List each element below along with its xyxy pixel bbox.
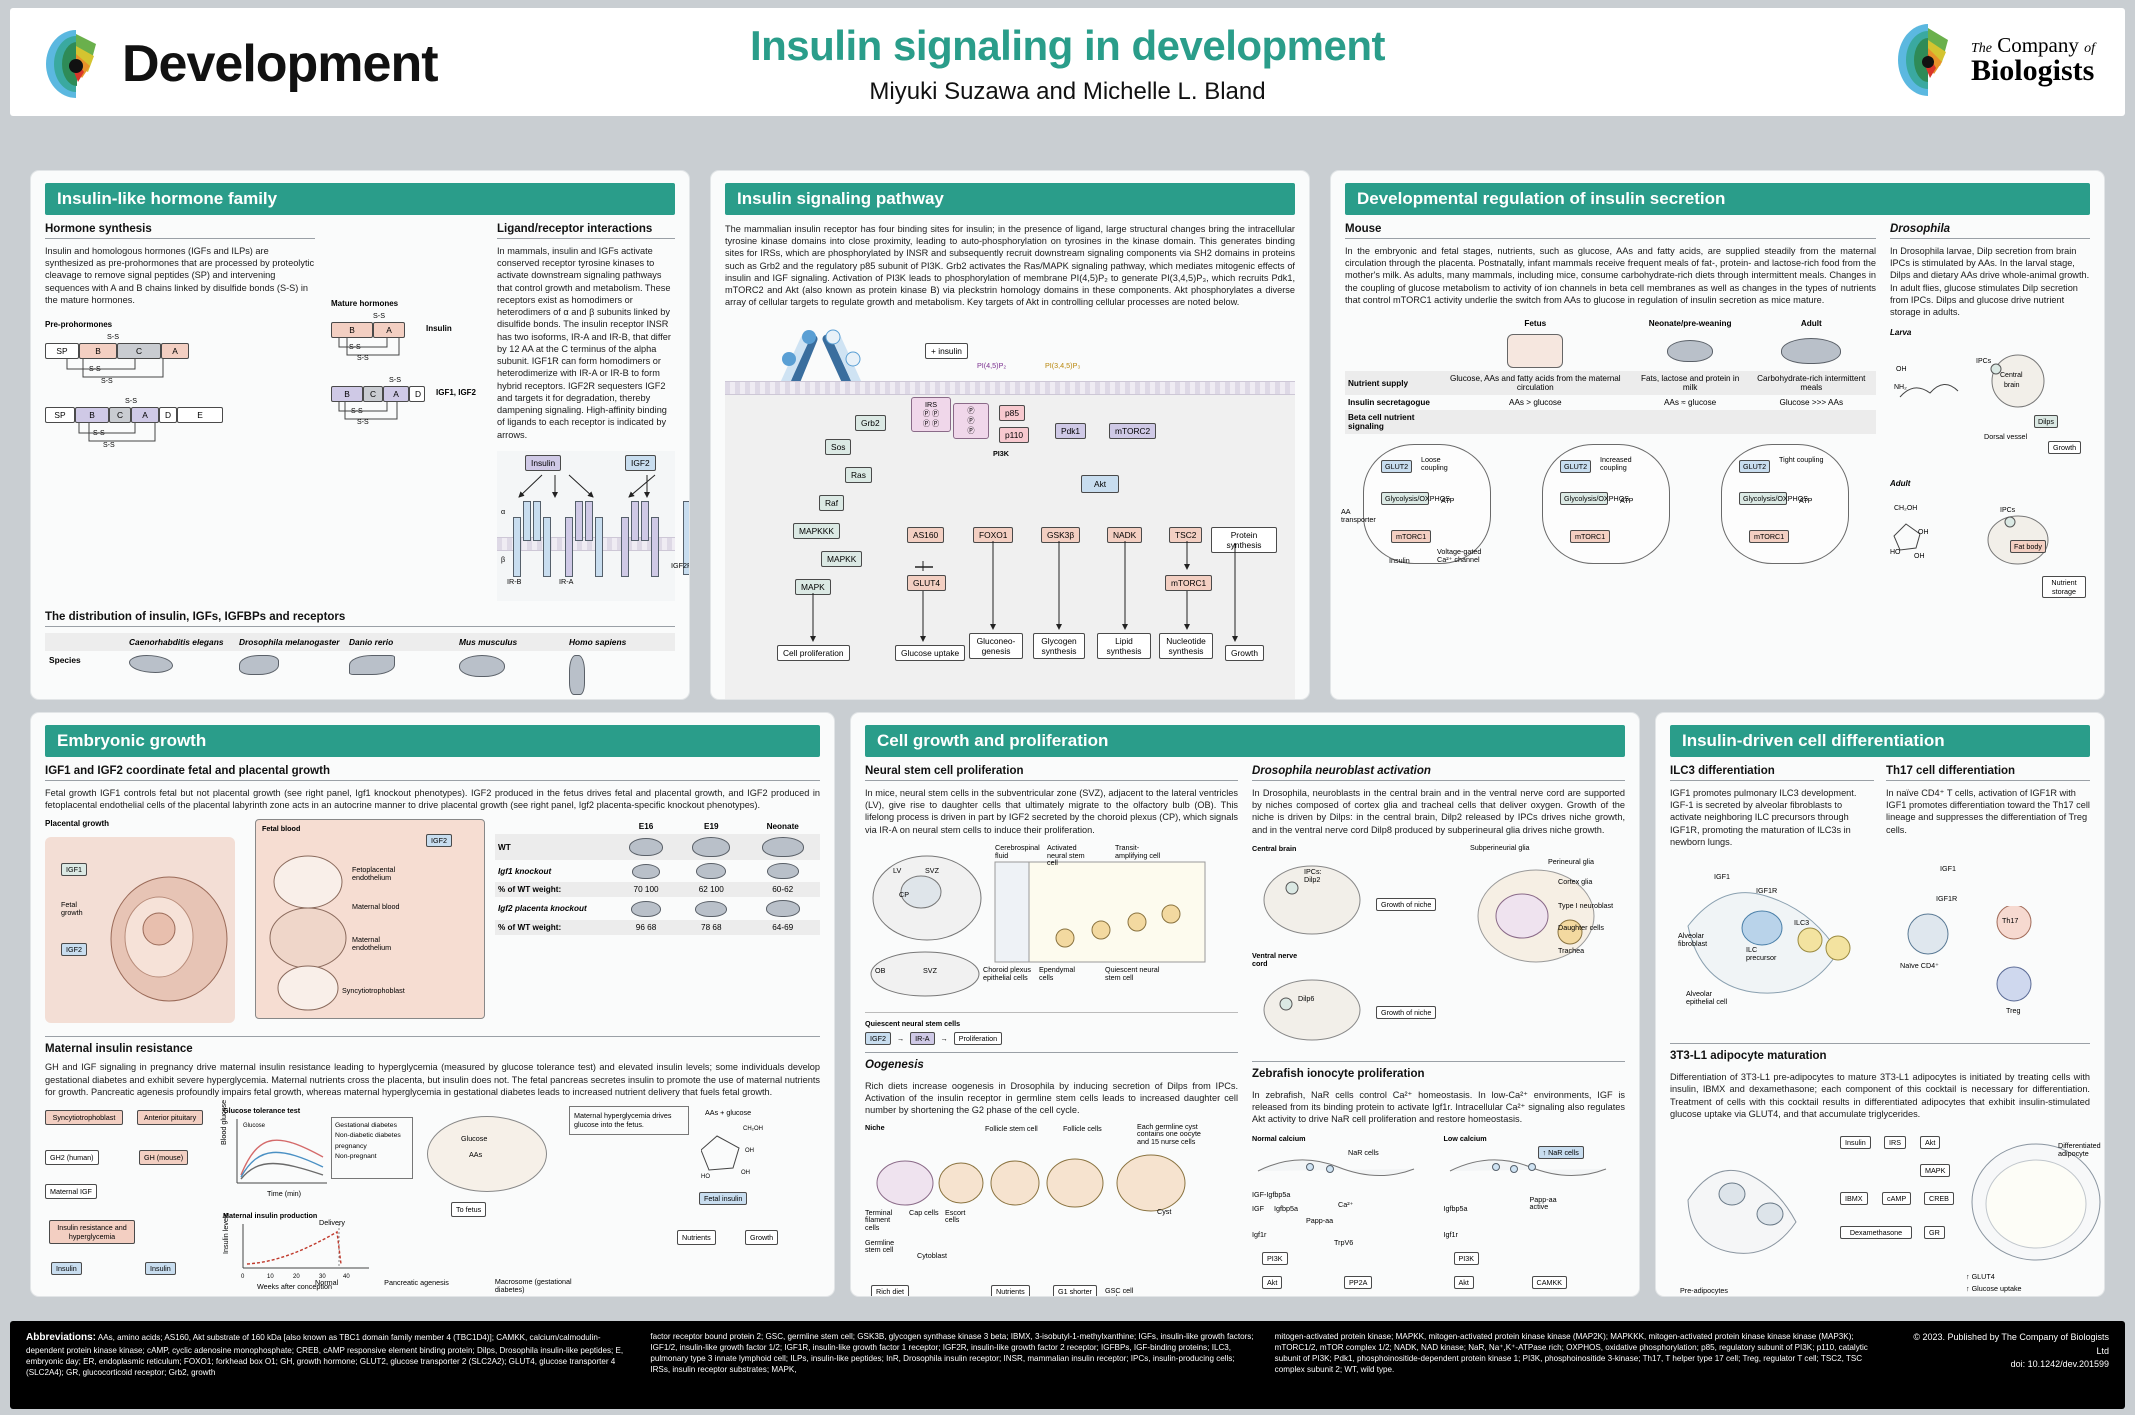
species-icon-worm	[125, 651, 235, 699]
atp-adult: ATP	[1799, 496, 1812, 505]
wt-e16-icon	[615, 834, 677, 860]
rich-diet-node: Rich diet	[871, 1285, 909, 1297]
panel-developmental-regulation: Developmental regulation of insulin secr…	[1330, 170, 2105, 700]
beta-cell-fetus: GLUT2 Loose coupling Glycolysis/OXPHOS m…	[1345, 438, 1518, 570]
insulin-node-adipo: Insulin	[1840, 1136, 1871, 1149]
ibmx-node: IBMX	[1840, 1192, 1868, 1205]
glut2-adult: GLUT2	[1739, 460, 1770, 473]
maternal-endothelium-label: Maternal endothelium	[352, 936, 418, 952]
col-drosophila: Drosophila melanogaster	[239, 637, 340, 647]
gsc-cell-cycle-diagram: Rich diet IPCs Dilps InR Germline stem c…	[865, 1285, 1238, 1297]
col-homo: Homo sapiens	[569, 637, 626, 647]
insulin-node-fetal-side: Insulin	[145, 1262, 176, 1275]
igf2ko-e19-icon	[677, 897, 745, 920]
row-secretagogue: Insulin secretagogue	[1345, 395, 1437, 410]
cytoblast-label: Cytoblast	[917, 1251, 947, 1260]
glut2-neonate: GLUT2	[1560, 460, 1591, 473]
ilc3-title: ILC3 differentiation	[1670, 765, 1874, 781]
fetus-icon	[1437, 331, 1634, 371]
qnsc-title: Quiescent neural stem cells	[865, 1019, 1238, 1028]
ko-row-igf2: Igf2 placenta knockout	[495, 897, 615, 920]
species-icon-fly	[235, 651, 345, 699]
svz-label: SVZ	[925, 866, 939, 875]
anterior-pituitary-node: Anterior pituitary	[137, 1110, 203, 1125]
svg-text:S-S: S-S	[89, 366, 101, 373]
th17-text: In naïve CD4⁺ T cells, activation of IGF…	[1886, 787, 2090, 836]
maternal-blood-label: Maternal blood	[352, 902, 400, 911]
ss-label-3: S-S	[373, 311, 385, 320]
receptor-igf2r: IGF2R	[671, 561, 690, 570]
pp2a-node: PP2A	[1344, 1276, 1372, 1289]
igf1r-label-th17: IGF1R	[1936, 894, 1957, 903]
adult-fly-diagram: CH₂OH OH HO OH IPCs Fat body Nutrient st…	[1890, 488, 2090, 618]
ko-col-e19: E19	[677, 819, 745, 834]
alveolar-fibroblast-label: Alveolar fibroblast	[1678, 932, 1722, 947]
glycolysis-adult: Glycolysis/OXPHOS	[1739, 492, 1787, 505]
igf1-label-th17: IGF1	[1940, 864, 1956, 873]
ss-label-4: S-S	[389, 375, 401, 384]
ligands-mus: 1 insulin 1 IGF1 1 IGF2	[455, 699, 565, 700]
gh2-human-node: GH2 (human)	[45, 1150, 99, 1165]
ko-pct-label-1: % of WT weight:	[495, 882, 615, 897]
germline-cyst-note: Each germline cyst contains one oocyte a…	[1137, 1123, 1203, 1146]
hormone-synthesis-text: Insulin and homologous hormones (IGFs an…	[45, 245, 315, 306]
panel1-heading: Insulin-like hormone family	[45, 183, 675, 215]
igf1ko-e19-icon	[677, 860, 745, 882]
svg-text:0: 0	[241, 1274, 245, 1280]
panel-cell-growth-proliferation: Cell growth and proliferation Neural ste…	[850, 712, 1640, 1297]
gh-mouse-node: GH (mouse)	[139, 1150, 188, 1165]
neuroblast-text: In Drosophila, neuroblasts in the centra…	[1252, 787, 1625, 836]
papp-aa-label-normal: Papp-aa	[1306, 1216, 1333, 1225]
nsc-text: In mice, neural stem cells in the subven…	[865, 787, 1238, 836]
stage-neonate: Neonate/pre-weaning	[1634, 316, 1747, 331]
igf1ko-pct-e19: 62 100	[677, 882, 745, 897]
maternal-igf-node: Maternal IGF	[45, 1184, 97, 1199]
ko-row-wt: WT	[495, 834, 615, 860]
escort-cells-label: Escort cells	[945, 1209, 979, 1224]
perineural-glia-label: Perineural glia	[1548, 858, 1600, 866]
panel6-heading: Insulin-driven cell differentiation	[1670, 725, 2090, 757]
adult-mouse-icon	[1747, 331, 1876, 371]
maternal-insulin-resistance-text: GH and IGF signaling in pregnancy drive …	[45, 1061, 820, 1098]
differentiated-adipocyte-illustration: Differentiated adipocyte ↑ GLUT4 ↑ Gluco…	[1960, 1130, 2105, 1297]
svg-text:CH₂OH: CH₂OH	[1894, 505, 1917, 512]
naive-cd4-label: Naïve CD4⁺	[1900, 962, 1942, 970]
dexamethasone-node: Dexamethasone	[1840, 1226, 1912, 1239]
svg-text:NH₂: NH₂	[1894, 384, 1907, 391]
panel3-heading: Developmental regulation of insulin secr…	[1345, 183, 2090, 215]
akt-node-normal: Akt	[1262, 1276, 1282, 1289]
zebrafish-title: Zebrafish ionocyte proliferation	[1252, 1068, 1625, 1083]
ilc-precursor-label: ILC precursor	[1746, 946, 1784, 961]
atp-neonate: ATP	[1620, 496, 1633, 505]
copyright-text: © 2023. Published by The Company of Biol…	[1899, 1331, 2109, 1358]
svg-text:OH: OH	[741, 1170, 750, 1176]
coupling-adult: Tight coupling	[1779, 456, 1825, 464]
mip-xlabel: Weeks after conception	[257, 1282, 332, 1291]
maternal-resistance-flow: Syncytiotrophoblast Anterior pituitary G…	[45, 1106, 215, 1284]
larva-diagram: OH NH₂ Central brain IPCs Dorsal vessel …	[1890, 337, 2090, 477]
ipcs-dilp2-label: IPCs: Dilp2	[1304, 868, 1338, 883]
abbrev-col-2: factor receptor bound protein 2; GSC, ge…	[650, 1331, 1256, 1399]
panel-insulin-like-hormone-family: Insulin-like hormone family Hormone synt…	[30, 170, 690, 700]
dorsal-vessel-label: Dorsal vessel	[1984, 433, 2028, 441]
pi3k-node-low: PI3K	[1454, 1252, 1480, 1265]
abbrev-text-1: AAs, amino acids; AS160, Akt substrate o…	[26, 1333, 623, 1377]
svz-label-2: SVZ	[923, 966, 937, 975]
svg-text:HO: HO	[701, 1174, 710, 1180]
aas-label: AAs	[469, 1150, 482, 1159]
mip-delivery-label: Delivery	[319, 1218, 345, 1227]
germline-stem-cell-label: Germline stem cell	[865, 1239, 911, 1254]
adult-label: Adult	[1890, 479, 2090, 488]
larva-label: Larva	[1890, 328, 2090, 337]
daughter-cells-label: Daughter cells	[1558, 924, 1610, 932]
activated-nsc-label: Activated neural stem cell	[1047, 844, 1097, 867]
insulin-resistance-node: Insulin resistance and hyperglycemia	[49, 1220, 135, 1244]
placental-growth-label: Placental growth	[45, 819, 245, 828]
igf1r-label-ilc: IGF1R	[1756, 886, 1777, 895]
hormone-synthesis-title: Hormone synthesis	[45, 223, 315, 239]
akt-node-low: Akt	[1454, 1276, 1474, 1289]
type-i-neuroblast-label: Type I neuroblast	[1558, 902, 1616, 910]
glut2-fetus: GLUT2	[1381, 460, 1412, 473]
svg-text:OH: OH	[1914, 553, 1925, 560]
dilps-larva: Dilps	[2034, 415, 2058, 428]
svg-text:S-S: S-S	[351, 408, 363, 415]
beta-cell-neonate: GLUT2 Increased coupling Glycolysis/OXPH…	[1524, 438, 1697, 570]
drosophila-section-title: Drosophila	[1890, 223, 2090, 239]
zebrafish-normal-calcium: Normal calcium NaR cells IGF-Igfbp5a IGF…	[1252, 1134, 1434, 1297]
igf-coordination-title: IGF1 and IGF2 coordinate fetal and place…	[45, 765, 820, 781]
igf2ko-pct-e19: 78 68	[677, 920, 745, 935]
row-label-ligands: Ligands	[45, 699, 125, 700]
pre-prohormones-label: Pre-prohormones	[45, 320, 223, 329]
pathway-text: The mammalian insulin receptor has four …	[725, 223, 1295, 309]
aa-transporter-label: AA transporter	[1341, 508, 1381, 523]
igf2ko-pct-e16: 96 68	[615, 920, 677, 935]
preadipocyte-illustration: Pre-adipocytes	[1670, 1130, 1830, 1297]
lv-label: LV	[893, 866, 901, 875]
cortex-glia-label: Cortex glia	[1558, 878, 1606, 886]
mtorc1-neonate: mTORC1	[1570, 530, 1610, 543]
page-title: Insulin signaling in development	[10, 22, 2125, 70]
distribution-table-title: The distribution of insulin, IGFs, IGFBP…	[45, 611, 675, 627]
nar-cells-label-normal: NaR cells	[1348, 1148, 1379, 1157]
svg-text:HO: HO	[1890, 549, 1901, 556]
transit-amplifying-label: Transit-amplifying cell	[1115, 844, 1165, 859]
svg-text:IPCs: IPCs	[2000, 507, 2016, 514]
igf-coordination-text: Fetal growth IGF1 controls fetal but not…	[45, 787, 820, 811]
svg-text:IPCs: IPCs	[1976, 358, 1992, 365]
species-icon-mouse	[455, 651, 565, 699]
follicle-cells-label: Follicle cells	[1063, 1125, 1111, 1133]
igf1ko-neonate-icon	[745, 860, 820, 882]
gtt-legend-2: Non-diabetic diabetes pregnancy	[335, 1131, 409, 1151]
ss-label: S-S	[107, 332, 119, 341]
fetal-growth-label: Fetal growth	[61, 901, 97, 916]
ligands-celegans: 40 ligands: 17α,11β, 11γ and INS-31	[125, 699, 235, 700]
glucose-uptake-up-label: ↑ Glucose uptake	[1966, 1284, 2022, 1293]
nsc-title: Neural stem cell proliferation	[865, 765, 1238, 781]
qnsc-igf2: IGF2	[865, 1032, 891, 1045]
svg-text:30: 30	[319, 1274, 326, 1280]
species-icon-human	[565, 651, 675, 699]
camp-node: cAMP	[1882, 1192, 1911, 1205]
igf-igfbp5a-label: IGF-Igfbp5a	[1252, 1190, 1290, 1199]
growth-larva: Growth	[2048, 441, 2081, 454]
pi3k-node-normal: PI3K	[1262, 1252, 1288, 1265]
row-label-species: Species	[45, 651, 125, 699]
svg-text:Central: Central	[2000, 372, 2023, 379]
igf1ko-e16-icon	[615, 860, 677, 882]
trpv6-label: TrpV6	[1334, 1238, 1353, 1247]
ss-label-2: S-S	[125, 396, 137, 405]
placental-growth-figure: Placental growth IGF1 IGF2 Fetal growth	[45, 819, 245, 1029]
ligands-homo: 1 insulin 1 IGF1 1 IGF2	[565, 699, 675, 700]
igf1ko-pct-neonate: 60-62	[745, 882, 820, 897]
cob-logo-icon	[1892, 20, 1964, 100]
coupling-fetus: Loose coupling	[1421, 456, 1467, 472]
wt-e19-icon	[677, 834, 745, 860]
svg-text:20: 20	[293, 1274, 300, 1280]
vgcc-label: Voltage-gated Ca²⁺ channel	[1437, 548, 1493, 563]
maternal-insulin-resistance-title: Maternal insulin resistance	[45, 1043, 820, 1058]
igf1r-label-normal: Igf1r	[1252, 1230, 1266, 1239]
subperineurial-glia-label: Subperineurial glia	[1470, 844, 1534, 852]
insulin-label: Insulin	[426, 324, 452, 333]
oogenesis-title: Oogenesis	[865, 1059, 1238, 1074]
nutrient-storage-label: Nutrient storage	[2042, 576, 2086, 598]
quiescent-nsc-label: Quiescent neural stem cell	[1105, 966, 1161, 981]
gtt-title: Glucose tolerance test	[223, 1106, 413, 1115]
svg-text:10: 10	[267, 1274, 274, 1280]
svg-text:brain: brain	[2004, 382, 2020, 389]
trachea-label: Trachea	[1558, 946, 1584, 955]
irs-node-adipo: IRS	[1884, 1136, 1906, 1149]
ilc3-label: ILC3	[1794, 918, 1809, 927]
svg-text:CH₂OH: CH₂OH	[743, 1126, 763, 1132]
igf2-placental: IGF2	[61, 943, 87, 956]
calcium-label-normal: Ca²⁺	[1338, 1200, 1353, 1209]
adipocyte-title: 3T3-L1 adipocyte maturation	[1670, 1050, 2090, 1065]
neuroblast-diagram: Central brain IPCs: Dilp2 Growth of nich…	[1252, 844, 1625, 1054]
choroid-plexus-cells-label: Choroid plexus epithelial cells	[983, 966, 1033, 981]
cob-company-of: Company of	[1997, 33, 2095, 57]
ependymal-cells-label: Ependymal cells	[1039, 966, 1083, 981]
row-nutrient-supply: Nutrient supply	[1345, 371, 1437, 395]
secretagogue-fetus: AAs > glucose	[1437, 395, 1634, 410]
igf1-placental: IGF1	[61, 863, 87, 876]
knockout-phenotype-table: E16 E19 Neonate WT Igf1 knockout	[495, 819, 820, 935]
zebrafish-text: In zebrafish, NaR cells control Ca²⁺ hom…	[1252, 1089, 1625, 1126]
qnsc-proliferation: Proliferation	[954, 1032, 1002, 1045]
stage-illustrations-row	[1345, 331, 1876, 371]
fetal-insulin-node: Fetal insulin	[699, 1192, 747, 1205]
svg-text:S-S: S-S	[101, 378, 113, 385]
neonate-icon	[1634, 331, 1747, 371]
papp-aa-active-label: Papp-aa active	[1530, 1196, 1574, 1211]
igf2ko-e16-icon	[615, 897, 677, 920]
svg-text:OH: OH	[1918, 529, 1929, 536]
gtt-legend-3: Non-pregnant	[335, 1152, 409, 1162]
igf1r-label-low: Igf1r	[1444, 1230, 1458, 1239]
increased-nar-cells: ↑ NaR cells	[1538, 1146, 1584, 1159]
preadipocytes-label: Pre-adipocytes	[1680, 1286, 1728, 1295]
akt-node-adipo: Akt	[1920, 1136, 1940, 1149]
insulin-node-maternal: Insulin	[51, 1262, 82, 1275]
authors: Miyuki Suzawa and Michelle L. Bland	[10, 78, 2125, 106]
creb-node: CREB	[1924, 1192, 1954, 1205]
panel4-heading: Embryonic growth	[45, 725, 820, 757]
gr-node: GR	[1924, 1226, 1945, 1239]
svg-text:S-S: S-S	[93, 430, 105, 437]
triglyceride-up-label: ↑ Triglyceride	[1966, 1296, 2008, 1297]
terminal-filament-label: Terminal filament cells	[865, 1209, 905, 1232]
mip-title: Maternal insulin production	[223, 1211, 413, 1220]
ko-pct-label-2: % of WT weight:	[495, 920, 615, 935]
th17-title: Th17 cell differentiation	[1886, 765, 2090, 781]
abbrev-col-3: mitogen-activated protein kinase; MAPKK,…	[1275, 1331, 1881, 1399]
mouse-section-title: Mouse	[1345, 223, 1876, 239]
receptor-ir-a: IR-A	[559, 577, 573, 586]
igf2ko-neonate-icon	[745, 897, 820, 920]
qnsc-ir-a: IR-A	[910, 1032, 934, 1045]
coupling-neonate: Increased coupling	[1600, 456, 1646, 472]
zebrafish-low-calcium: Low calcium ↑ NaR cells Igfbp5a Papp-aa …	[1444, 1134, 1626, 1297]
cyst-label: Cyst	[1157, 1207, 1171, 1216]
camkk-node: CAMKK	[1532, 1276, 1568, 1289]
fetal-response-diagram: Maternal hyperglycemia drives glucose in…	[569, 1106, 820, 1284]
mip-ylabel: Insulin levels	[221, 1213, 230, 1254]
nutrient-supply-adult: Carbohydrate-rich intermittent meals	[1747, 371, 1876, 395]
adipocyte-text: Differentiation of 3T3-L1 pre-adipocytes…	[1670, 1071, 2090, 1120]
ilc3-text: IGF1 promotes pulmonary ILC3 development…	[1670, 787, 1874, 848]
ligand-insulin: Insulin	[525, 455, 561, 471]
zf-low-label: Low calcium	[1444, 1134, 1626, 1143]
svg-text:S-S: S-S	[357, 419, 369, 426]
neuroblast-title: Drosophila neuroblast activation	[1252, 765, 1625, 781]
mtorc1-fetus: mTORC1	[1391, 530, 1431, 543]
abbreviations-footer: Abbreviations: AAs, amino acids; AS160, …	[10, 1321, 2125, 1409]
igf1-label-ilc: IGF1	[1714, 872, 1730, 881]
ligand-receptor-title: Ligand/receptor interactions	[497, 223, 675, 239]
table-row-species: Species	[45, 651, 675, 699]
panel-embryonic-growth: Embryonic growth IGF1 and IGF2 coordinat…	[30, 712, 835, 1297]
poster-header: Development Insulin signaling in develop…	[10, 8, 2125, 116]
panel-insulin-signaling-pathway: Insulin signaling pathway The mammalian …	[710, 170, 1310, 700]
insulin-label-beta: Insulin	[1389, 556, 1410, 565]
growth-of-niche-1: Growth of niche	[1376, 898, 1436, 911]
fetal-blood-inset: Fetal blood IGF2 Fetoplacental endotheli…	[255, 819, 485, 1029]
mtorc1-adult: mTORC1	[1749, 530, 1789, 543]
mature-hormones-label: Mature hormones	[331, 299, 481, 308]
oogenesis-diagram: Niche Terminal filament cells Cap cells …	[865, 1123, 1238, 1283]
ligand-receptor-text: In mammals, insulin and IGFs activate co…	[497, 245, 675, 441]
follicle-stem-cell-label: Follicle stem cell	[985, 1125, 1039, 1133]
nutrient-supply-fetus: Glucose, AAs and fatty acids from the ma…	[1437, 371, 1634, 395]
fetal-blood-label: Fetal blood	[262, 824, 300, 833]
cap-cells-label: Cap cells	[909, 1209, 939, 1217]
nutrient-supply-neonate: Fats, lactose and protein in milk	[1634, 371, 1747, 395]
nsc-diagram: LV SVZ CP OB SVZ Cerebrospinal fluid Act…	[865, 842, 1238, 1012]
growth-of-niche-2: Growth of niche	[1376, 1006, 1436, 1019]
col-c-elegans: Caenorhabditis elegans	[129, 637, 223, 647]
growth-node-fetal: Growth	[745, 1230, 778, 1245]
igf2-inset: IGF2	[426, 834, 452, 847]
treg-label: Treg	[2006, 1006, 2021, 1015]
niche-label: Niche	[865, 1123, 885, 1132]
igf2ko-pct-neonate: 64-69	[745, 920, 820, 935]
secretagogue-neonate: AAs ≈ glucose	[1634, 395, 1747, 410]
beta-cell-adult: GLUT2 Tight coupling Glycolysis/OXPHOS m…	[1703, 438, 1876, 570]
footer-right: © 2023. Published by The Company of Biol…	[1899, 1331, 2109, 1399]
nutrients-node: Nutrients	[677, 1230, 716, 1245]
dilp6-label: Dilp6	[1298, 994, 1314, 1003]
company-of-biologists-logo: The Company of Biologists	[1892, 20, 2095, 100]
adipocyte-signaling-nodes: Insulin IRS Akt MAPK IBMX cAMP CREB Dexa…	[1840, 1130, 1950, 1297]
species-icon-fish	[345, 651, 455, 699]
ko-col-neonate: Neonate	[745, 819, 820, 834]
ko-col-e16: E16	[615, 819, 677, 834]
ligands-drosophila: 7 Dilps (Dilp6 retains its C peptide)	[235, 699, 345, 700]
wt-neonate-icon	[745, 834, 820, 860]
igf-label-zf: IGF	[1252, 1204, 1264, 1213]
alpha-label: α	[501, 507, 505, 516]
to-fetus-node: To fetus	[451, 1202, 486, 1217]
oogenesis-text: Rich diets increase oogenesis in Drosoph…	[865, 1080, 1238, 1117]
placenta-transfer-diagram: Glucose AAs To fetus	[421, 1106, 561, 1284]
igf1ko-pct-e16: 70 100	[615, 882, 677, 897]
col-mus: Mus musculus	[459, 637, 517, 647]
ligands-danio: 2 insulins 2 IGF1s 2 IGF2s	[345, 699, 455, 700]
nutrients-node-gsc: Nutrients	[991, 1285, 1030, 1297]
receptor-ir-b: IR-B	[507, 577, 521, 586]
atp-fetus: ATP	[1441, 496, 1454, 505]
stage-adult: Adult	[1747, 316, 1876, 331]
svg-text:40: 40	[343, 1274, 350, 1280]
th17-diagram: IGF1 IGF1R Th17 Naïve CD4⁺ Treg	[1892, 856, 2090, 1036]
gsc-title: GSC cell cycle	[1105, 1287, 1145, 1297]
gtt-ylabel: Blood glucose	[219, 1100, 228, 1145]
ventral-nerve-cord-label: Ventral nerve cord	[1252, 952, 1312, 967]
row-beta-cell-signaling: Beta cell nutrient signaling	[1345, 410, 1437, 434]
glut4-up-label: ↑ GLUT4	[1966, 1272, 1995, 1281]
svg-text:S-S: S-S	[357, 355, 369, 362]
svg-text:S-S: S-S	[349, 344, 361, 351]
mouse-section-text: In the embryonic and fetal stages, nutri…	[1345, 245, 1876, 306]
gtt-legend-1: Gestational diabetes	[335, 1121, 409, 1131]
mapk-node-adipo: MAPK	[1920, 1164, 1950, 1177]
title-block: Insulin signaling in development Miyuki …	[10, 22, 2125, 106]
svg-text:OH: OH	[745, 1148, 754, 1154]
secretagogue-adult: Glucose >>> AAs	[1747, 395, 1876, 410]
panel-insulin-driven-differentiation: Insulin-driven cell differentiation ILC3…	[1655, 712, 2105, 1297]
igfbp5a-label-zf: Igfbp5a	[1274, 1204, 1298, 1213]
fetoplacental-endothelium-label: Fetoplacental endothelium	[352, 866, 422, 882]
abbrev-label: Abbreviations:	[26, 1332, 96, 1343]
maternal-hyperglycemia-note: Maternal hyperglycemia drives glucose in…	[569, 1106, 689, 1134]
igf12-label: IGF1, IGF2	[436, 388, 476, 398]
fat-body-label: Fat body	[2010, 540, 2046, 553]
svg-text:OH: OH	[1896, 366, 1907, 373]
syncytiotrophoblast-node: Syncytiotrophoblast	[45, 1110, 123, 1125]
cp-label: CP	[899, 890, 909, 899]
zf-normal-label: Normal calcium	[1252, 1134, 1434, 1143]
svg-text:Glucose: Glucose	[243, 1123, 266, 1129]
panel5-heading: Cell growth and proliferation	[865, 725, 1625, 757]
